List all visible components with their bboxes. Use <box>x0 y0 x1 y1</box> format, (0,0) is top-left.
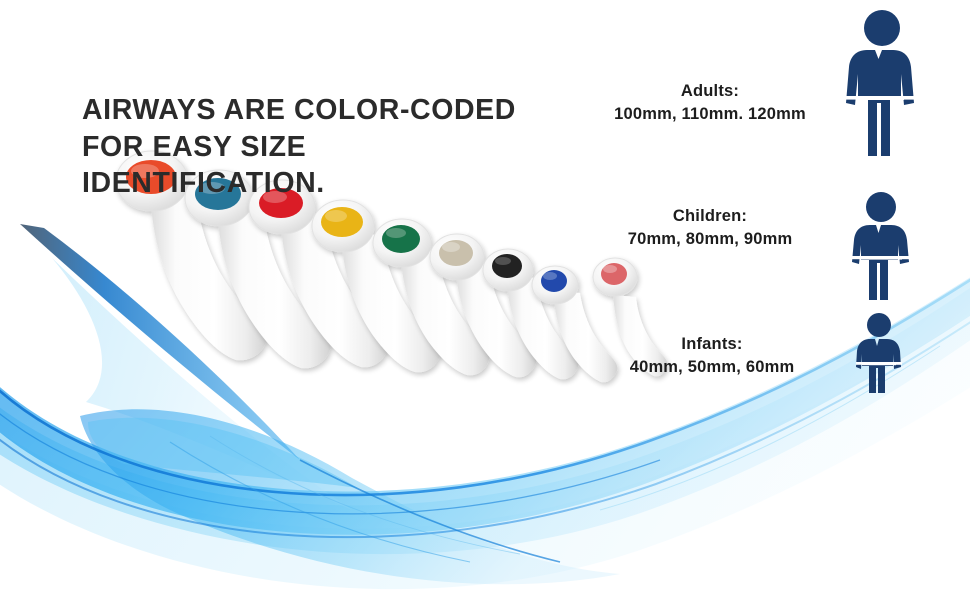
size-values-children: 70mm, 80mm, 90mm <box>590 228 830 251</box>
adult-figure-icon <box>846 8 918 160</box>
infant-figure-icon <box>856 312 902 395</box>
page-headline: AIRWAYS ARE COLOR-CODED FOR EASY SIZE ID… <box>82 56 552 238</box>
size-values-infants: 40mm, 50mm, 60mm <box>592 356 832 379</box>
size-label-infants: Infants: 40mm, 50mm, 60mm <box>592 333 832 379</box>
size-category-children: Children: <box>590 205 830 228</box>
infographic-canvas: AIRWAYS ARE COLOR-CODED FOR EASY SIZE ID… <box>0 0 970 600</box>
child-figure-icon <box>852 190 910 303</box>
headline-line-1: AIRWAYS ARE COLOR-CODED <box>82 94 516 126</box>
headline-line-2: FOR EASY SIZE IDENTIFICATION. <box>82 129 552 202</box>
size-category-infants: Infants: <box>592 333 832 356</box>
size-label-children: Children: 70mm, 80mm, 90mm <box>590 205 830 251</box>
size-category-adults: Adults: <box>576 80 844 103</box>
size-values-adults: 100mm, 110mm. 120mm <box>576 103 844 126</box>
size-label-adults: Adults: 100mm, 110mm. 120mm <box>576 80 844 126</box>
